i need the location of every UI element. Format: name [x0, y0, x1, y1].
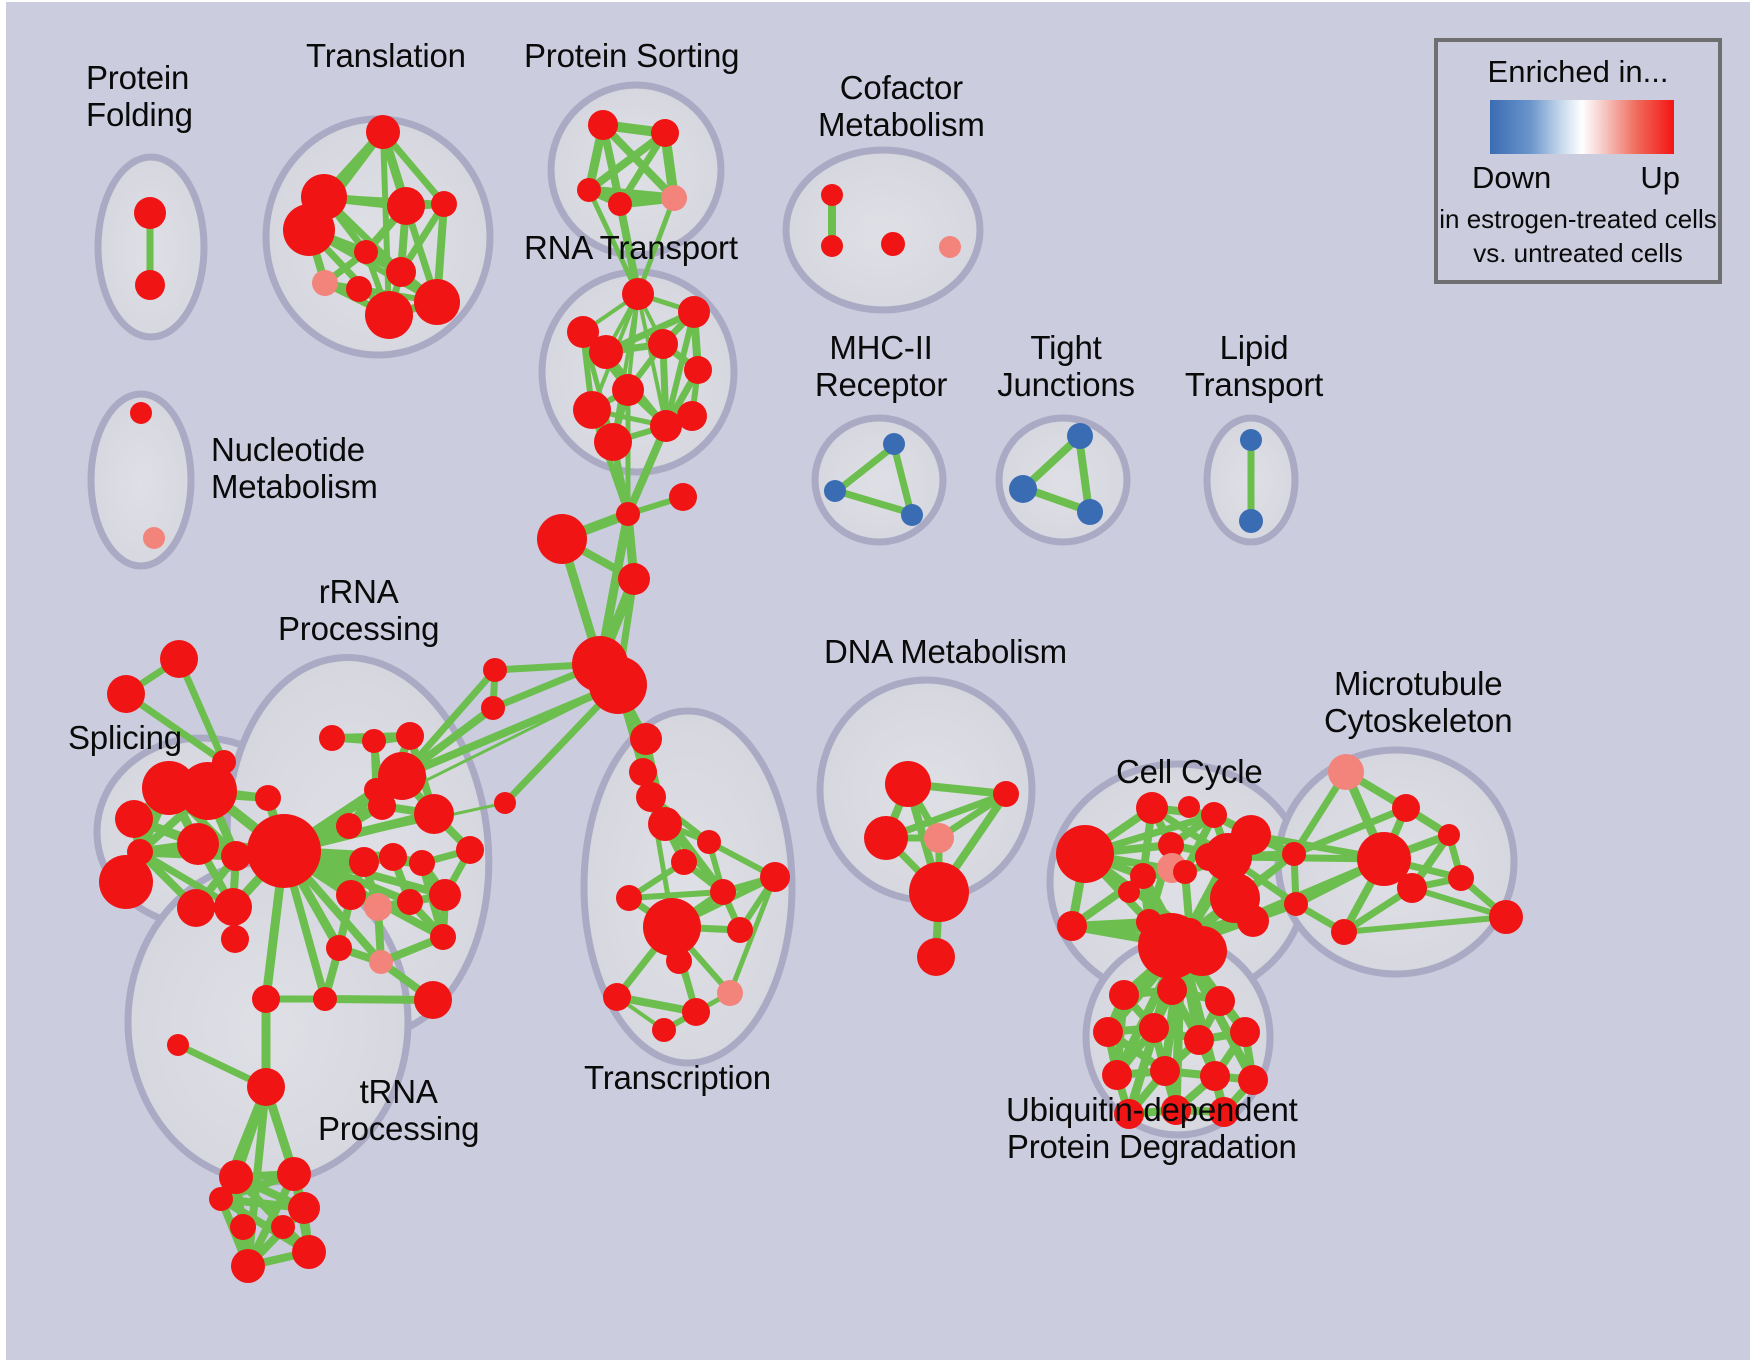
node [177, 823, 219, 865]
node [1109, 980, 1139, 1010]
node [1150, 1056, 1180, 1086]
node [603, 983, 631, 1011]
node [1392, 794, 1420, 822]
node [99, 855, 153, 909]
node [387, 187, 425, 225]
node [1201, 802, 1227, 828]
node [1331, 919, 1357, 945]
node [221, 925, 249, 953]
node [1200, 1061, 1230, 1091]
node [326, 935, 352, 961]
node [885, 761, 931, 807]
node [684, 356, 712, 384]
node [629, 758, 657, 786]
node [160, 640, 198, 678]
node [1177, 926, 1227, 976]
node [288, 1192, 320, 1224]
node [1205, 986, 1235, 1016]
node [993, 781, 1019, 807]
node [1237, 905, 1269, 937]
node [901, 504, 923, 526]
node [682, 998, 710, 1026]
node [247, 814, 321, 888]
node [909, 862, 969, 922]
node [214, 888, 252, 926]
hull-protein-sorting [551, 85, 721, 255]
node [1240, 429, 1262, 451]
node [648, 807, 682, 841]
node [717, 980, 743, 1006]
node [130, 402, 152, 424]
node [483, 658, 507, 682]
node [588, 110, 618, 140]
node [618, 563, 650, 595]
node [1238, 1065, 1268, 1095]
node [209, 1187, 233, 1211]
node [1136, 792, 1168, 824]
node [881, 232, 905, 256]
node [1448, 865, 1474, 891]
node [589, 656, 647, 714]
node [230, 1214, 256, 1240]
node [616, 502, 640, 526]
node [821, 235, 843, 257]
node [661, 185, 687, 211]
node [409, 850, 435, 876]
node [677, 401, 707, 431]
node [648, 329, 678, 359]
node [939, 236, 961, 258]
node [494, 792, 516, 814]
node [414, 794, 454, 834]
node [167, 1034, 189, 1056]
node [1438, 824, 1460, 846]
node [1239, 509, 1263, 533]
node [313, 987, 337, 1011]
enrichment-map-figure: .hull{fill:url(#cg);stroke:#aaaac4;strok… [0, 0, 1750, 1360]
node [883, 433, 905, 455]
hull-cofactor [786, 150, 980, 310]
node [577, 178, 601, 202]
legend-panel: Enriched in... Down Up in estrogen-treat… [1434, 38, 1722, 284]
node [379, 843, 407, 871]
node [1077, 499, 1103, 525]
node [1102, 1060, 1132, 1090]
node [369, 950, 393, 974]
legend-color-bar [1490, 100, 1674, 154]
node [594, 423, 632, 461]
node [134, 197, 166, 229]
node [727, 917, 753, 943]
node [864, 816, 908, 860]
node [414, 981, 452, 1019]
legend-subtitle-line1: in estrogen-treated cells [1438, 204, 1718, 235]
node [177, 889, 215, 927]
node [336, 813, 362, 839]
node [666, 948, 692, 974]
node [1056, 825, 1114, 883]
node [255, 785, 281, 811]
node [1328, 754, 1364, 790]
legend-title: Enriched in... [1438, 54, 1718, 90]
node [354, 240, 378, 264]
node [115, 800, 153, 838]
node [1178, 796, 1200, 818]
legend-down-label: Down [1472, 160, 1551, 196]
node [414, 279, 460, 325]
node [824, 480, 846, 502]
node [386, 257, 416, 287]
node [1209, 1097, 1239, 1127]
node [1057, 911, 1087, 941]
node [612, 374, 644, 406]
node [1173, 860, 1197, 884]
node [630, 723, 662, 755]
node [1397, 873, 1427, 903]
node [697, 830, 721, 854]
node [362, 729, 386, 753]
node [429, 879, 461, 911]
node [821, 184, 843, 206]
legend-up-label: Up [1640, 160, 1680, 196]
node [319, 725, 345, 751]
node [573, 391, 611, 429]
node [1139, 1013, 1169, 1043]
node [396, 722, 424, 750]
node [397, 889, 423, 915]
node [346, 276, 372, 302]
node [643, 898, 701, 956]
node [247, 1068, 285, 1106]
node [678, 296, 710, 328]
node [616, 885, 642, 911]
node [349, 847, 379, 877]
node [651, 119, 679, 147]
node [168, 779, 194, 805]
node [710, 879, 736, 905]
node [430, 924, 456, 950]
node [1093, 1017, 1123, 1047]
node [366, 115, 400, 149]
node [1489, 900, 1523, 934]
node [1282, 842, 1306, 866]
node [1157, 975, 1187, 1005]
node [277, 1157, 311, 1191]
node [917, 938, 955, 976]
node [1184, 1025, 1214, 1055]
legend-subtitle-line2: vs. untreated cells [1438, 238, 1718, 269]
node [283, 204, 335, 256]
node [107, 675, 145, 713]
node [481, 696, 505, 720]
node [1067, 423, 1093, 449]
node [652, 1018, 676, 1042]
node [537, 514, 587, 564]
node [760, 862, 790, 892]
node [365, 291, 413, 339]
node [1114, 1099, 1144, 1129]
node [669, 483, 697, 511]
node [271, 1215, 295, 1239]
node [231, 1249, 265, 1283]
node [456, 836, 484, 864]
node [364, 893, 392, 921]
node [221, 841, 251, 871]
node [1118, 881, 1140, 903]
node [135, 270, 165, 300]
node [567, 316, 599, 348]
node [1284, 892, 1308, 916]
node [336, 880, 366, 910]
node [1230, 1017, 1260, 1047]
node [608, 192, 632, 216]
node [292, 1235, 326, 1269]
node [622, 278, 654, 310]
node [1009, 475, 1037, 503]
node [143, 527, 165, 549]
node [671, 849, 697, 875]
node [1161, 1095, 1191, 1125]
node [252, 985, 280, 1013]
node [924, 823, 954, 853]
node [312, 270, 338, 296]
hull-mhc [815, 418, 943, 542]
node [1204, 833, 1252, 881]
node [431, 191, 457, 217]
node [378, 752, 426, 800]
